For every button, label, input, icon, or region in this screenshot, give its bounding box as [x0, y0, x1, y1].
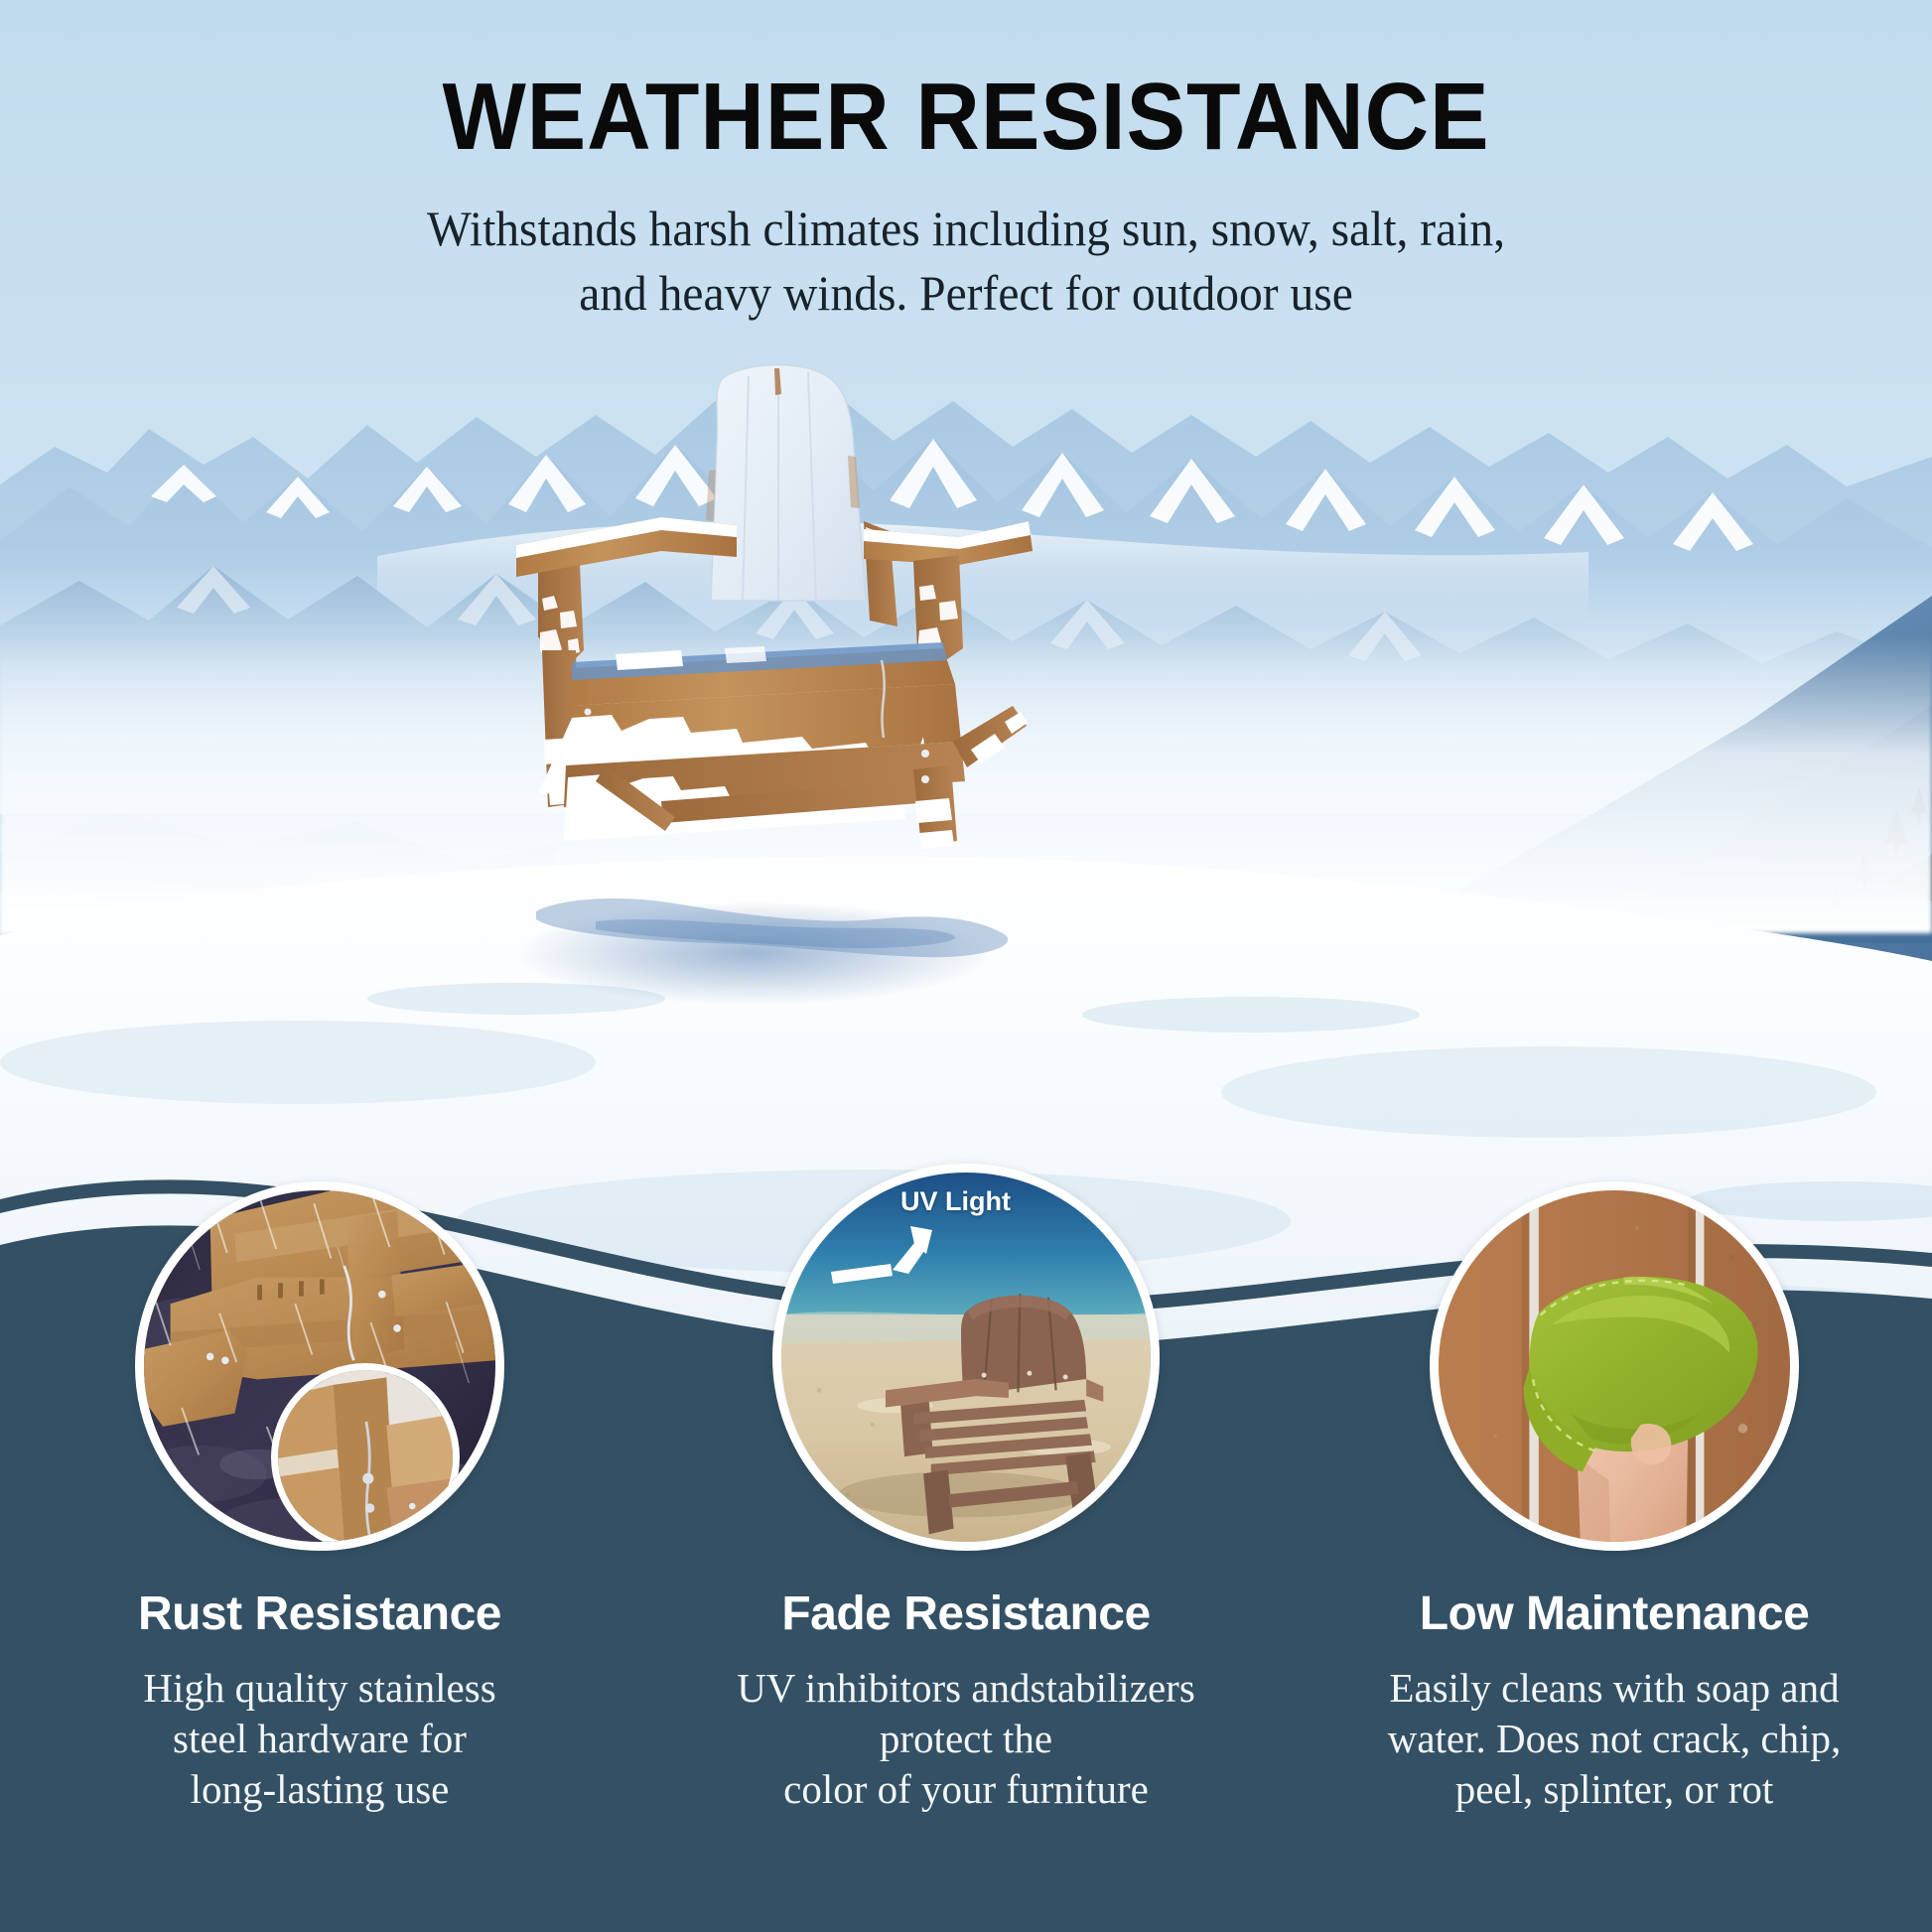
uv-arrow-icon: [831, 1220, 960, 1300]
feature-desc-rust: High quality stainless steel hardware fo…: [22, 1663, 618, 1814]
feature-inset-hardware-detail: [271, 1363, 460, 1551]
feature-title-fade: Fade Resistance: [668, 1587, 1264, 1641]
subtitle-line-2: and heavy winds. Perfect for outdoor use: [49, 261, 1884, 326]
uv-light-label: UV Light: [900, 1186, 1011, 1217]
feature-low-maintenance: Low Maintenance Easily cleans with soap …: [1316, 1181, 1912, 1814]
subtitle-line-1: Withstands harsh climates including sun,…: [49, 197, 1884, 261]
feature-rust-resistance: Rust Resistance High quality stainless s…: [22, 1181, 618, 1814]
page-title: WEATHER RESISTANCE: [68, 69, 1864, 165]
feature-title-maintenance: Low Maintenance: [1316, 1587, 1912, 1641]
feature-fade-resistance: UV Light Fade Resistance UV inhibitors a…: [668, 1164, 1264, 1814]
feature-image-maintenance: [1430, 1181, 1799, 1551]
feature-desc-fade: UV inhibitors andstabilizers protect the…: [668, 1663, 1264, 1814]
feature-image-rust: [135, 1181, 504, 1551]
header-block: WEATHER RESISTANCE Withstands harsh clim…: [0, 69, 1932, 326]
page-subtitle: Withstands harsh climates including sun,…: [49, 197, 1884, 326]
feature-desc-maintenance: Easily cleans with soap and water. Does …: [1316, 1663, 1912, 1814]
feature-image-fade: UV Light: [772, 1164, 1160, 1551]
feature-title-rust: Rust Resistance: [22, 1587, 618, 1641]
adirondack-chair-snow-covered: [477, 352, 1072, 908]
